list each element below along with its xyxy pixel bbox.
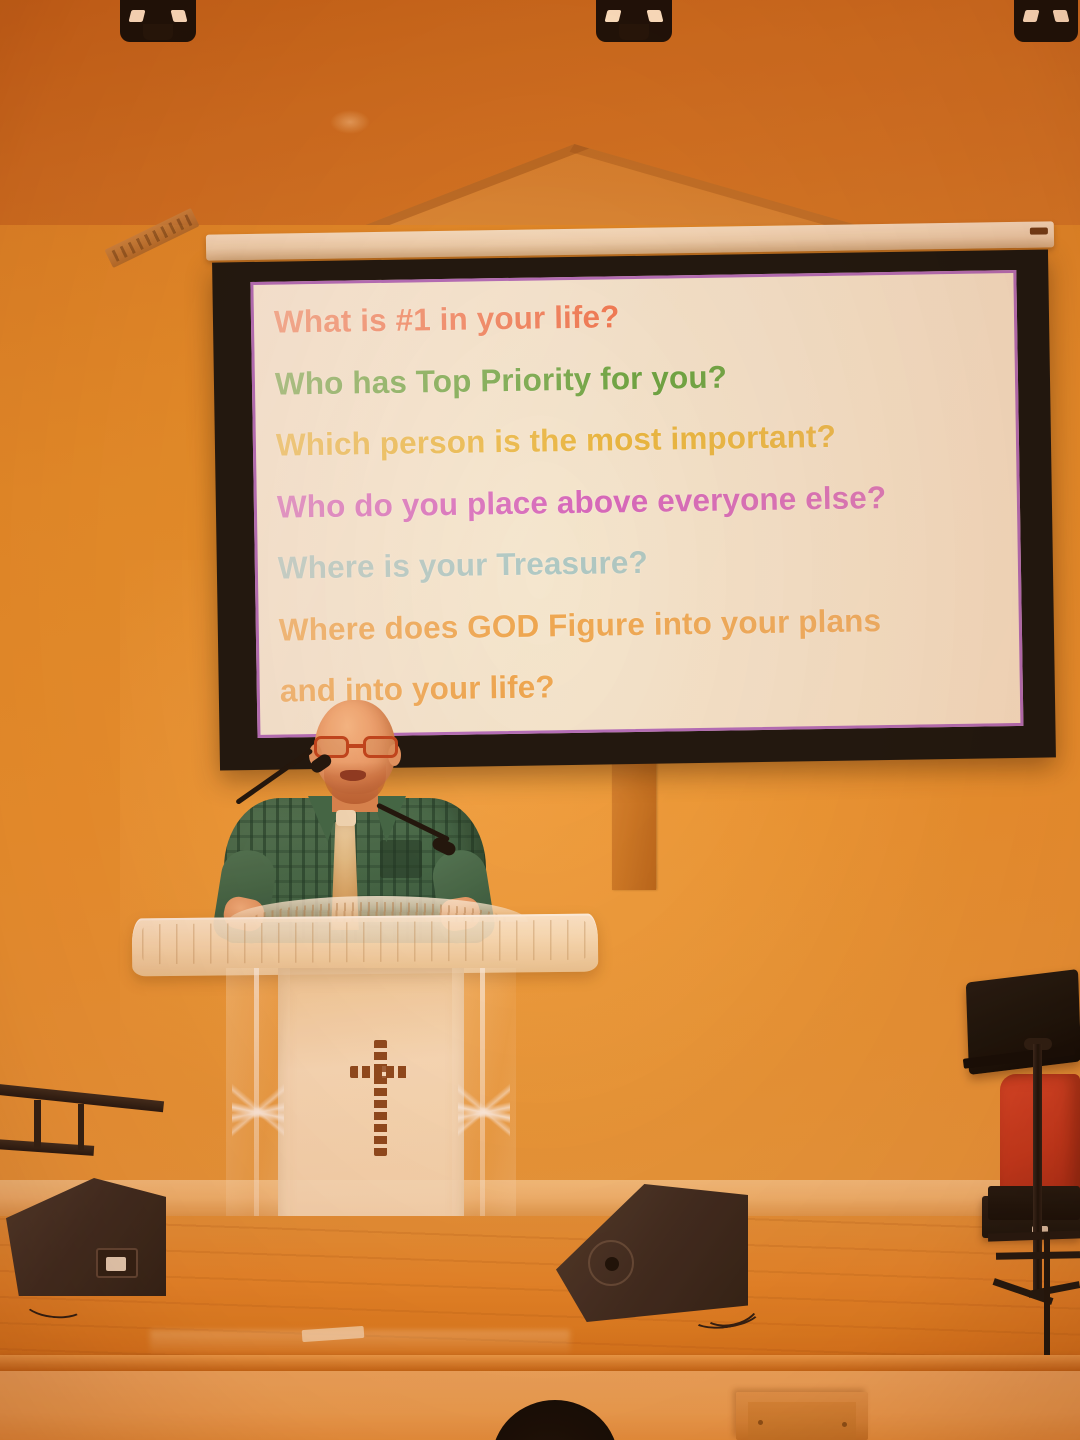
roller-endcap	[1030, 227, 1048, 234]
cross-vertical	[374, 1040, 387, 1156]
cross-icon	[350, 1040, 410, 1156]
slide-line-2: Who has Top Priority for you?	[275, 357, 999, 400]
cross-horizontal	[350, 1066, 410, 1078]
slide-text-block: What is #1 in your life? Who has Top Pri…	[253, 273, 1020, 707]
acrylic-etching	[458, 1024, 510, 1194]
slide-line-5: Where is your Treasure?	[278, 541, 1002, 584]
light-yoke	[143, 24, 173, 40]
wall-mark	[330, 110, 370, 134]
sanctuary-photo: What is #1 in your life? Who has Top Pri…	[0, 0, 1080, 1440]
speaker-mouth	[340, 770, 366, 781]
lens-left	[314, 736, 349, 758]
acrylic-etching	[232, 1024, 284, 1194]
projection-screen: What is #1 in your life? Who has Top Pri…	[212, 249, 1056, 770]
rig-post	[78, 1104, 84, 1150]
stage-edge	[0, 1355, 1080, 1371]
monitor-handle	[96, 1248, 138, 1278]
necktie-knot	[336, 810, 356, 826]
wooden-step-face	[748, 1402, 856, 1440]
light-yoke	[619, 24, 649, 40]
metal-rail-right	[996, 1251, 1080, 1259]
slide-line-6: Where does GOD Figure into your plans	[279, 603, 1003, 646]
pulpit-top	[132, 914, 599, 977]
speaker-cone-icon	[588, 1240, 634, 1286]
step-screw	[842, 1422, 847, 1427]
pulpit-top-ridges	[142, 920, 588, 965]
stage-light-icon	[596, 0, 672, 42]
step-screw	[758, 1420, 763, 1425]
stage-light-icon	[120, 0, 196, 42]
slide-line-1: What is #1 in your life?	[274, 295, 998, 338]
rig-post	[34, 1100, 41, 1148]
slide-line-4: Who do you place above everyone else?	[277, 480, 1001, 523]
glasses-bridge	[349, 744, 363, 748]
mic-stand-foreground	[1044, 1232, 1050, 1362]
slide-line-3: Which person is the most important?	[276, 418, 1000, 461]
stage-light-icon	[1014, 0, 1078, 42]
lens-right	[363, 736, 398, 758]
projected-slide: What is #1 in your life? Who has Top Pri…	[250, 270, 1023, 738]
shirt-pocket	[380, 840, 422, 878]
